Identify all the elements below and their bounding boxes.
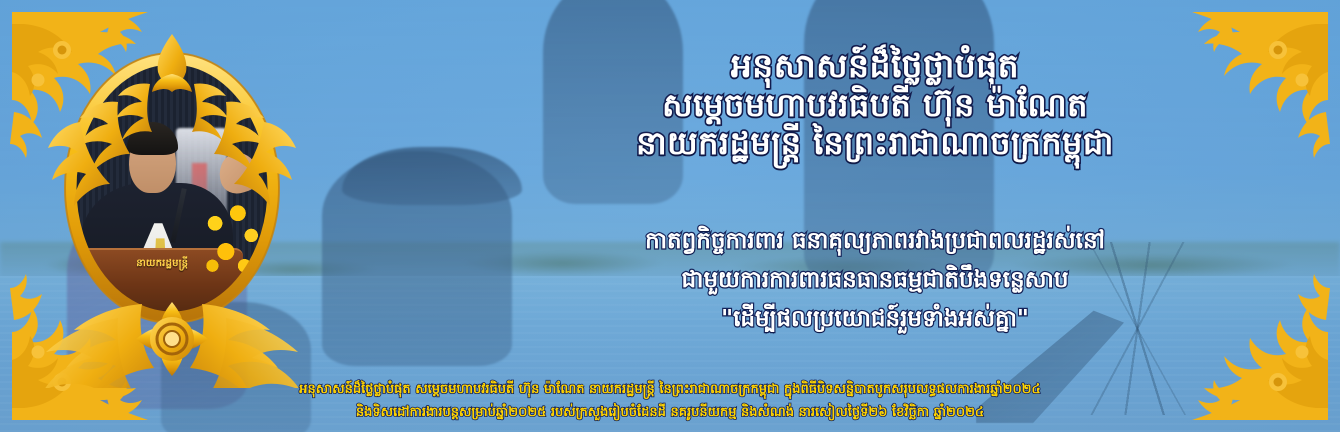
caption-line-2: និងទិសដៅការងារបន្តសម្រាប់ឆ្នាំ២០២៥ របស់ក… [110,402,1230,424]
subheadline-block: កាតព្វកិច្ចការពារ ធនាគុល្យភាពរវាងប្រជាពល… [430,222,1320,339]
headline-block: អនុសាសន៍ដ៏ថ្លៃថ្លាបំផុត សម្តេចមហាបវរធិបត… [430,46,1320,162]
subheadline-line-1: កាតព្វកិច្ចការពារ ធនាគុល្យភាពរវាងប្រជាពល… [430,222,1320,261]
portrait-medallion: នាយករដ្ឋមន្ត្រី [22,18,322,388]
subheadline-line-2: ជាមួយការការពារធនធានធម្មជាតិបឹងទន្លេសាប [430,261,1320,300]
gold-oval-frame [22,18,322,388]
headline-line-1: អនុសាសន៍ដ៏ថ្លៃថ្លាបំផុត [430,46,1320,86]
caption-block: អនុសាសន៍ដ៏ថ្លៃថ្លាបំផុត សម្តេចមហាបវរធិបត… [110,379,1230,424]
khmer-announcement-banner: នាយករដ្ឋមន្ត្រី [0,0,1340,432]
headline-line-2: សម្តេចមហាបវរធិបតី ហ៊ុន ម៉ាណែត [430,86,1320,124]
caption-line-1: អនុសាសន៍ដ៏ថ្លៃថ្លាបំផុត សម្តេចមហាបវរធិបត… [110,379,1230,401]
subheadline-quote: "ដើម្បីផលប្រយោជន៍រួមទាំងអស់គ្នា" [430,300,1320,339]
headline-line-3: នាយករដ្ឋមន្ត្រី នៃព្រះរាជាណាចក្រកម្ពុជា [430,124,1320,162]
